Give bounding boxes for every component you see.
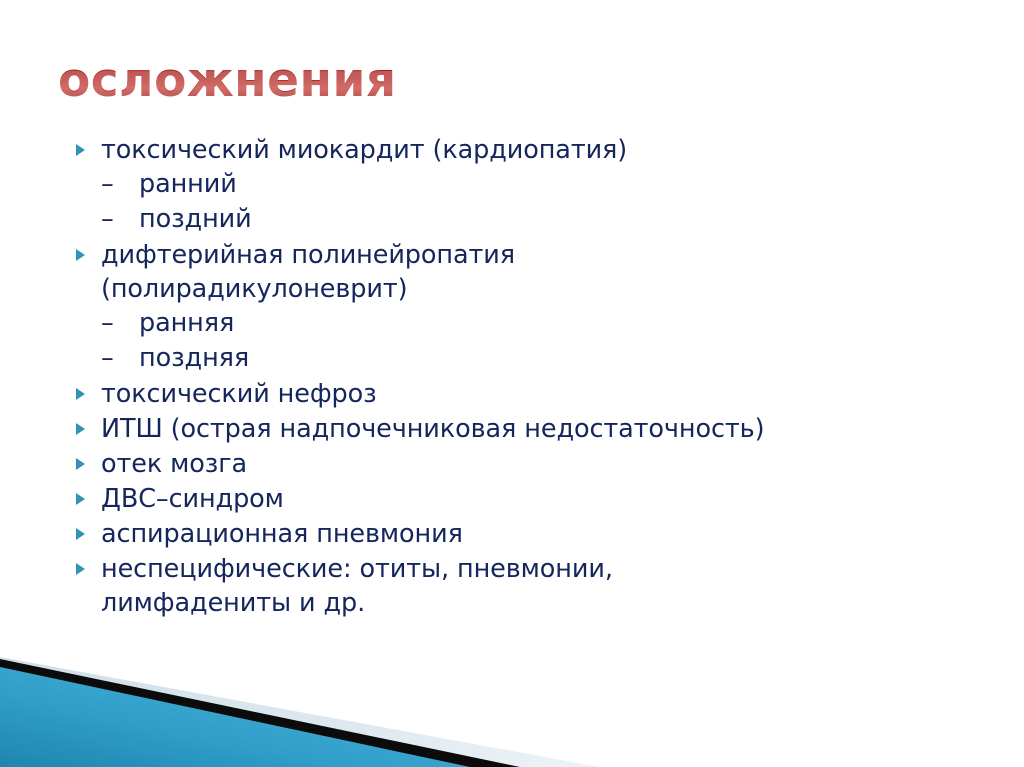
list-item-label: ДВС–синдром [101, 482, 970, 516]
sub-bullet-list: – ранняя – поздняя [101, 306, 970, 376]
corner-decoration [0, 637, 1024, 767]
list-item: токсический нефроз [70, 377, 970, 411]
list-item: ИТШ (острая надпочечниковая недостаточно… [70, 412, 970, 446]
slide: осложнения токсический миокардит (кардио… [0, 0, 1024, 767]
dash-icon: – [101, 341, 114, 376]
triangle-right-icon [76, 493, 85, 505]
list-item-label: токсический миокардит (кардиопатия) [101, 133, 661, 167]
sub-list-item-label: ранний [139, 169, 237, 199]
teal-triangle [0, 667, 470, 767]
list-item-label: неспецифические: отиты, пневмонии, лимфа… [101, 552, 766, 620]
triangle-right-icon [76, 563, 85, 575]
triangle-right-icon [76, 458, 85, 470]
triangle-right-icon [76, 144, 85, 156]
dash-icon: – [101, 202, 114, 237]
list-item: дифтерийная полинейропатия (полирадикуло… [70, 238, 970, 376]
list-item: ДВС–синдром [70, 482, 970, 516]
list-item: аспирационная пневмония [70, 517, 970, 551]
triangle-right-icon [76, 388, 85, 400]
list-item-label: дифтерийная полинейропатия (полирадикуло… [101, 238, 766, 306]
list-item-label: отек мозга [101, 447, 970, 481]
list-item: токсический миокардит (кардиопатия) – ра… [70, 133, 970, 237]
black-stripe [0, 659, 520, 767]
page-title: осложнения [58, 52, 958, 110]
content-body: токсический миокардит (кардиопатия) – ра… [70, 133, 970, 621]
list-item-label: аспирационная пневмония [101, 517, 970, 551]
triangle-right-icon [76, 528, 85, 540]
sub-list-item-label: поздний [139, 204, 252, 234]
list-item-label: токсический нефроз [101, 377, 970, 411]
triangle-right-icon [76, 249, 85, 261]
sub-list-item-label: поздняя [139, 343, 249, 373]
sub-list-item-label: ранняя [139, 308, 234, 338]
sub-list-item: – ранняя [101, 306, 970, 341]
list-item-label: ИТШ (острая надпочечниковая недостаточно… [101, 412, 970, 446]
list-item: отек мозга [70, 447, 970, 481]
bullet-list: токсический миокардит (кардиопатия) – ра… [70, 133, 970, 620]
triangle-right-icon [76, 423, 85, 435]
list-item: неспецифические: отиты, пневмонии, лимфа… [70, 552, 970, 620]
sub-list-item: – поздний [101, 202, 970, 237]
title-area: осложнения [58, 52, 958, 114]
pale-blue-band [0, 657, 600, 767]
dash-icon: – [101, 306, 114, 341]
sub-list-item: – ранний [101, 167, 970, 202]
sub-bullet-list: – ранний – поздний [101, 167, 970, 237]
sub-list-item: – поздняя [101, 341, 970, 376]
dash-icon: – [101, 167, 114, 202]
